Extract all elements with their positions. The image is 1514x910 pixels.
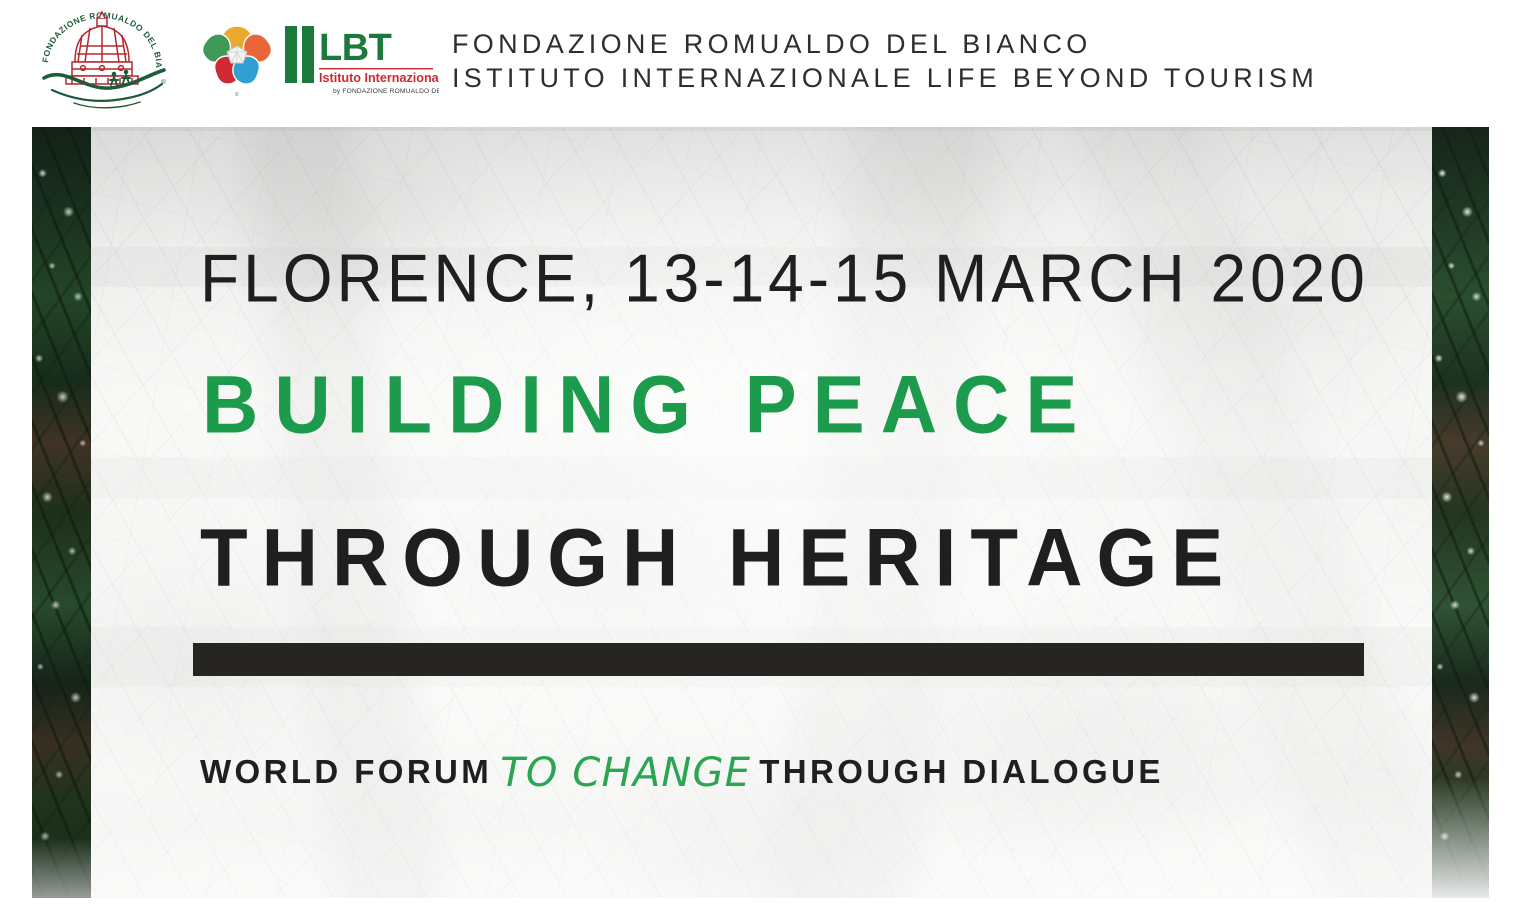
organisation-wordmark: FONDAZIONE ROMUALDO DEL BIANCO ISTITUTO … [452,27,1318,95]
organisation-name-line-2: ISTITUTO INTERNAZIONALE LIFE BEYOND TOUR… [452,61,1318,95]
lbt-bar-left [285,26,297,83]
event-title-primary: BUILDING PEACE [202,357,1093,453]
event-banner: FLORENCE, 13-14-15 MARCH 2020 BUILDING P… [32,127,1489,898]
lbt-byline: by FONDAZIONE ROMUALDO DEL BIANCO [333,88,439,95]
lbt-logo[interactable]: © LBT Istituto Internazionale LBT by FON… [199,18,439,100]
tagline-accent: TO CHANGE [492,750,759,796]
banner-text-block: FLORENCE, 13-14-15 MARCH 2020 BUILDING P… [32,127,1489,898]
lbt-subtitle: Istituto Internazionale LBT [319,71,439,85]
poster-page: FONDAZIONE ROMUALDO DEL BIANCO [0,0,1514,910]
event-tagline: WORLD FORUMTO CHANGETHROUGH DIALOGUE [200,747,1164,793]
tagline-prefix: WORLD FORUM [200,753,492,790]
tagline-suffix: THROUGH DIALOGUE [759,753,1164,790]
lbt-bar-right [302,26,314,83]
organisation-name-line-1: FONDAZIONE ROMUALDO DEL BIANCO [452,27,1318,61]
fondazione-romualdo-del-bianco-logo[interactable]: FONDAZIONE ROMUALDO DEL BIANCO [28,4,178,112]
event-title-secondary: THROUGH HERITAGE [200,510,1237,606]
title-divider-bar [193,643,1364,676]
event-date-line: FLORENCE, 13-14-15 MARCH 2020 [200,239,1369,317]
header-bar: FONDAZIONE ROMUALDO DEL BIANCO [0,0,1514,127]
lbt-wordmark: LBT [319,27,392,69]
svg-text:©: © [235,91,239,98]
registered-mark-icon: ® [161,78,166,86]
